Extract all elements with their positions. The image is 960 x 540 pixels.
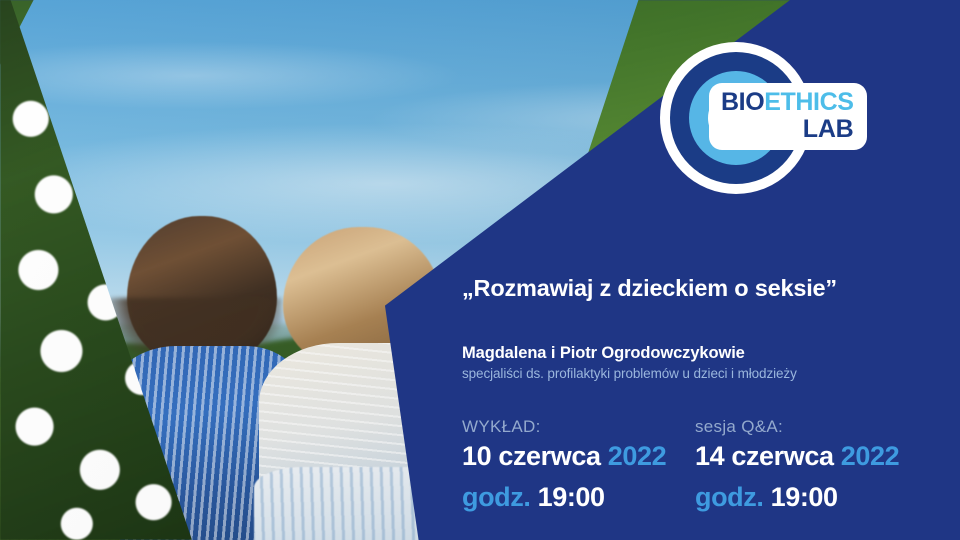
logo-wordmark-line-1: BIOETHICS <box>721 90 854 115</box>
hair <box>127 216 277 365</box>
time-word-lecture: godz. <box>462 482 530 512</box>
time-value-lecture: godz. 19:00 <box>462 482 695 513</box>
date-day-qa: 14 czerwca <box>695 441 834 471</box>
bioethics-lab-logo[interactable]: BIOETHICS LAB <box>660 42 812 194</box>
date-year-lecture: 2022 <box>608 441 666 471</box>
speaker-role: specjaliści ds. profilaktyki problemów u… <box>462 366 932 381</box>
time-clock-qa: 19:00 <box>771 482 838 512</box>
date-value-lecture: 10 czerwca 2022 <box>462 441 695 472</box>
date-block-qa: sesja Q&A: 14 czerwca 2022 godz. 19:00 <box>695 417 928 513</box>
date-block-lecture: WYKŁAD: 10 czerwca 2022 godz. 19:00 <box>462 417 695 513</box>
speakers-block: Magdalena i Piotr Ogrodowczykowie specja… <box>462 344 932 381</box>
dates-row: WYKŁAD: 10 czerwca 2022 godz. 19:00 sesj… <box>462 417 932 513</box>
logo-wordmark-plate: BIOETHICS LAB <box>709 83 867 150</box>
time-value-qa: godz. 19:00 <box>695 482 928 513</box>
time-clock-lecture: 19:00 <box>538 482 605 512</box>
date-label-qa: sesja Q&A: <box>695 417 928 437</box>
time-word-qa: godz. <box>695 482 763 512</box>
date-day-lecture: 10 czerwca <box>462 441 601 471</box>
date-value-qa: 14 czerwca 2022 <box>695 441 928 472</box>
logo-word-lab: LAB <box>721 117 854 142</box>
event-poster: BIOETHICS LAB „Rozmawiaj z dzieckiem o s… <box>0 0 960 540</box>
date-year-qa: 2022 <box>841 441 899 471</box>
event-headline: „Rozmawiaj z dzieckiem o seksie” <box>462 275 932 302</box>
date-label-lecture: WYKŁAD: <box>462 417 695 437</box>
speaker-names: Magdalena i Piotr Ogrodowczykowie <box>462 344 932 363</box>
logo-word-bio: BIO <box>721 88 764 116</box>
logo-word-ethics: ETHICS <box>764 88 853 116</box>
event-details: „Rozmawiaj z dzieckiem o seksie” Magdale… <box>462 275 932 513</box>
